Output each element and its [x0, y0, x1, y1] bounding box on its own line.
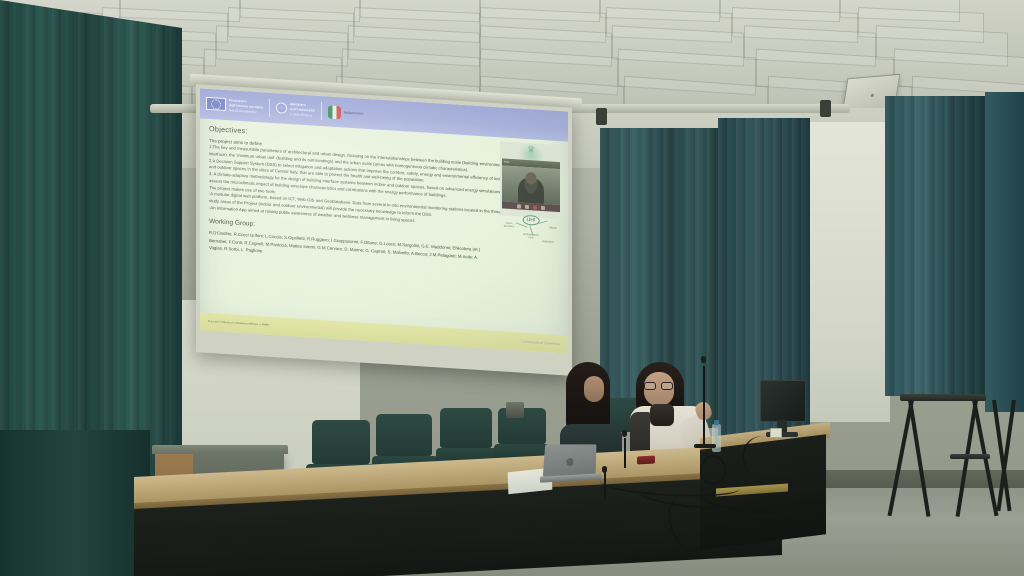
presenter-left-face: [584, 376, 604, 402]
laptop[interactable]: [540, 444, 600, 484]
curtain-fold: [945, 96, 954, 396]
glasses-right-lens: [661, 382, 673, 390]
mur-logo-text: Ministero dell'Università e della Ricerc…: [290, 102, 315, 117]
curtain-edge-right: [985, 92, 1024, 412]
folding-stand: [900, 394, 986, 524]
glasses-icon: [644, 382, 674, 390]
curtain-fold: [895, 96, 904, 396]
wall-panel-right: [806, 122, 890, 422]
uhi-node-0: Urban geometry: [502, 221, 516, 228]
curtain-fold: [935, 96, 944, 396]
laptop-lid: [543, 444, 597, 477]
presentation-slide: Finanziato dall'Unione europea NextGener…: [200, 88, 568, 353]
apple-logo-icon: [566, 458, 573, 466]
curtain-fold: [156, 0, 165, 505]
curtain-fold: [718, 118, 727, 448]
curtain-fold: [727, 118, 736, 448]
mur-logo: Ministero dell'Università e della Ricerc…: [276, 102, 315, 118]
uhi-node-2: Anthropogenic heat: [522, 233, 540, 240]
mic-pole: [703, 366, 705, 446]
footer-brand: Università di Camerino: [522, 340, 560, 346]
crest-glyph: ♛: [527, 145, 535, 155]
university-crest-icon: ♛: [518, 142, 544, 161]
presenter-right-scarf: [650, 404, 674, 426]
curtain-fold: [746, 118, 755, 448]
italia-domani-logo: Italiadomani: [328, 105, 364, 120]
mur-line-3: e della Ricerca: [290, 112, 312, 117]
folding-stand-leg: [908, 400, 930, 517]
mic-head-icon: [622, 430, 627, 437]
italia-domani-text: Italiadomani: [344, 110, 364, 116]
mic-head-icon: [602, 466, 607, 473]
logo-divider: [321, 102, 322, 120]
uhi-node-3: Vegetation: [540, 240, 556, 244]
eu-line-3: NextGenerationEU: [229, 108, 257, 114]
curtain-fold: [885, 96, 894, 396]
mic-base: [694, 444, 716, 448]
rod-bracket: [820, 100, 831, 117]
microphone-stand: [694, 352, 714, 448]
record-icon[interactable]: [533, 205, 537, 209]
external-monitor[interactable]: [760, 380, 806, 438]
chair-back: [440, 408, 492, 448]
video-participant-tile[interactable]: [502, 165, 560, 205]
curtain-fold: [736, 118, 745, 448]
curtain-fold: [915, 96, 924, 396]
video-window-title: Meet: [504, 161, 509, 164]
mic-icon[interactable]: [517, 204, 521, 208]
mur-emblem-icon: [276, 103, 287, 115]
monitor-screen[interactable]: [760, 380, 806, 422]
camera-icon[interactable]: [525, 204, 529, 208]
end-call-icon[interactable]: [541, 205, 545, 209]
bottle-cap: [714, 420, 719, 425]
red-desk-device[interactable]: [637, 456, 655, 465]
video-call-panel[interactable]: ♛ Meet UHI Urban geometry Albedo Anthrop…: [500, 141, 562, 219]
uhi-node-1: Albedo: [546, 226, 560, 230]
logo-divider: [269, 99, 270, 117]
glasses-left-lens: [644, 382, 656, 390]
eu-logo-text: Finanziato dall'Unione europea NextGener…: [229, 99, 263, 115]
participant-head: [526, 172, 537, 185]
conference-room-photo: Finanziato dall'Unione europea NextGener…: [0, 0, 1024, 576]
microphone-desk: [616, 430, 634, 472]
mic-head-icon: [701, 356, 706, 363]
power-outlet: [770, 428, 782, 438]
footer-note: Piano per la Ripresa e la Resilienza del…: [208, 320, 269, 327]
curtain-far-right: [885, 96, 985, 396]
slide-paragraphs: The project aims to define 1.The key and…: [209, 137, 509, 230]
uhi-center-label: UHI: [523, 215, 540, 226]
italia-line-1: Italiadomani: [344, 110, 364, 115]
folding-stand-right: [986, 400, 1024, 520]
uhi-diagram: UHI Urban geometry Albedo Anthropogenic …: [502, 209, 560, 253]
curtain-fold: [925, 96, 934, 396]
curtain-fold: [905, 96, 914, 396]
curtain-fold: [975, 96, 984, 396]
eu-flag-icon: [206, 97, 226, 111]
folding-stand-shelf: [950, 454, 990, 459]
italian-flag-icon: [328, 105, 341, 119]
eu-logo: Finanziato dall'Unione europea NextGener…: [206, 97, 263, 114]
curtain-fold: [169, 0, 178, 505]
curtain-fold: [965, 96, 974, 396]
curtain-fold: [955, 96, 964, 396]
mic-pole: [624, 438, 626, 468]
rod-bracket: [596, 108, 607, 125]
loudspeaker: [506, 402, 524, 418]
